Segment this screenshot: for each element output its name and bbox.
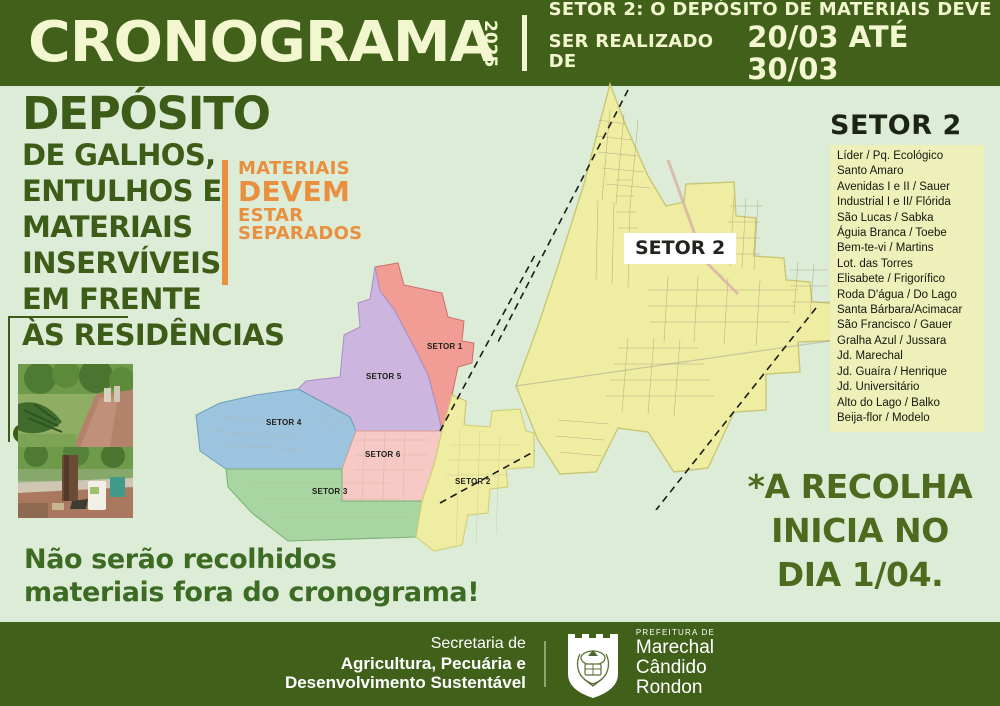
collection-line-3: DIA 1/04.: [735, 553, 985, 597]
separation-text: MATERIAIS DEVEM ESTAR SEPARADOS: [238, 160, 362, 244]
photo-debris-at-curb: [18, 447, 133, 518]
list-item: Gralha Azul / Jussara: [837, 334, 978, 349]
poster-canvas: CRONOGRAMA 2025 SETOR 2: O DEPÓSITO DE M…: [0, 0, 1000, 706]
map-label-setor-4: SETOR 4: [266, 418, 302, 427]
map-sectors-overview[interactable]: SETOR 1 SETOR 5 SETOR 4 SETOR 6 SETOR 3 …: [190, 255, 535, 555]
list-item: Jd. Guaíra / Henrique: [837, 365, 978, 380]
footer-secretariat: Secretaria de Agricultura, Pecuária e De…: [285, 635, 526, 693]
footer-divider: [544, 641, 546, 687]
header-notice: SETOR 2: O DEPÓSITO DE MATERIAIS DEVE SE…: [549, 0, 1000, 85]
footer-city-line-3: Rondon: [636, 678, 715, 698]
sector-panel-title: SETOR 2: [830, 110, 962, 141]
list-item: Santo Amaro: [837, 164, 978, 179]
neighborhood-items: Líder / Pq. Ecológico Santo Amaro Avenid…: [837, 149, 978, 426]
list-item: São Lucas / Sabka: [837, 211, 978, 226]
separation-line-2: DEVEM: [238, 178, 362, 207]
footer-city-line-2: Cândido: [636, 658, 715, 678]
collection-line-1: *A RECOLHA: [735, 465, 985, 509]
warning-line-2: materiais fora do cronograma!: [24, 576, 479, 609]
list-item: Alto do Lago / Balko: [837, 396, 978, 411]
list-item: Avenidas I e II / Sauer: [837, 180, 978, 195]
list-item: Líder / Pq. Ecológico: [837, 149, 978, 164]
map-setor-2-detail[interactable]: [498, 80, 858, 510]
headline-line-3: MATERIAIS: [22, 209, 252, 245]
footer-secretariat-line-3: Desenvolvimento Sustentável: [285, 673, 526, 693]
list-item: Lot. das Torres: [837, 257, 978, 272]
list-item: Industrial I e II/ Flórida: [837, 195, 978, 210]
headline-line-1: DE GALHOS,: [22, 137, 252, 173]
headline-main: DEPÓSITO: [22, 92, 252, 136]
page-title: CRONOGRAMA: [28, 15, 494, 71]
list-item: Beija-flor / Modelo: [837, 411, 978, 426]
collection-line-2: INICIA NO: [735, 509, 985, 553]
collection-start-note: *A RECOLHA INICIA NO DIA 1/04.: [735, 465, 985, 597]
map-detail-callout-label: SETOR 2: [624, 233, 736, 264]
footer-secretariat-line-2: Agricultura, Pecuária e: [285, 654, 526, 674]
header-notice-line1: SETOR 2: O DEPÓSITO DE MATERIAIS DEVE: [549, 0, 1000, 20]
sector-neighborhood-list: Líder / Pq. Ecológico Santo Amaro Avenid…: [830, 145, 984, 432]
map-label-setor-3: SETOR 3: [312, 487, 348, 496]
header-divider: [522, 15, 527, 71]
headline-line-2: ENTULHOS E: [22, 173, 252, 209]
header-notice-dates: 20/03 ATÉ 30/03: [747, 21, 1000, 86]
header-notice-prefix: SER REALIZADO DE: [549, 32, 741, 72]
map-label-setor-6: SETOR 6: [365, 450, 401, 459]
list-item: Bem-te-vi / Martins: [837, 241, 978, 256]
map-label-setor-5: SETOR 5: [366, 372, 402, 381]
header-title-group: CRONOGRAMA 2025: [28, 15, 500, 71]
header-bar: CRONOGRAMA 2025 SETOR 2: O DEPÓSITO DE M…: [0, 0, 1000, 86]
header-notice-line2: SER REALIZADO DE 20/03 ATÉ 30/03: [549, 21, 1000, 86]
list-item: Jd. Universitário: [837, 380, 978, 395]
photo-branches-on-street: [18, 364, 133, 448]
warning-line-1: Não serão recolhidos: [24, 543, 479, 576]
map-detail-outline: [516, 84, 850, 474]
footer-city-brand: PREFEITURA DE Marechal Cândido Rondon: [636, 629, 715, 699]
separation-line-4: SEPARADOS: [238, 225, 362, 243]
warning-text: Não serão recolhidos materiais fora do c…: [24, 543, 479, 609]
coat-of-arms-icon: [564, 630, 622, 698]
list-item: São Francisco / Gauer: [837, 318, 978, 333]
list-item: Santa Bárbara/Acimacar: [837, 303, 978, 318]
list-item: Jd. Marechal: [837, 349, 978, 364]
list-item: Elisabete / Frigorífico: [837, 272, 978, 287]
map-label-setor-2: SETOR 2: [455, 477, 491, 486]
footer-city-line-1: Marechal: [636, 638, 715, 658]
footer-secretariat-line-1: Secretaria de: [285, 635, 526, 654]
list-item: Roda D'água / Do Lago: [837, 288, 978, 303]
list-item: Águia Branca / Toebe: [837, 226, 978, 241]
map-label-setor-1: SETOR 1: [427, 342, 463, 351]
footer-bar: Secretaria de Agricultura, Pecuária e De…: [0, 622, 1000, 706]
